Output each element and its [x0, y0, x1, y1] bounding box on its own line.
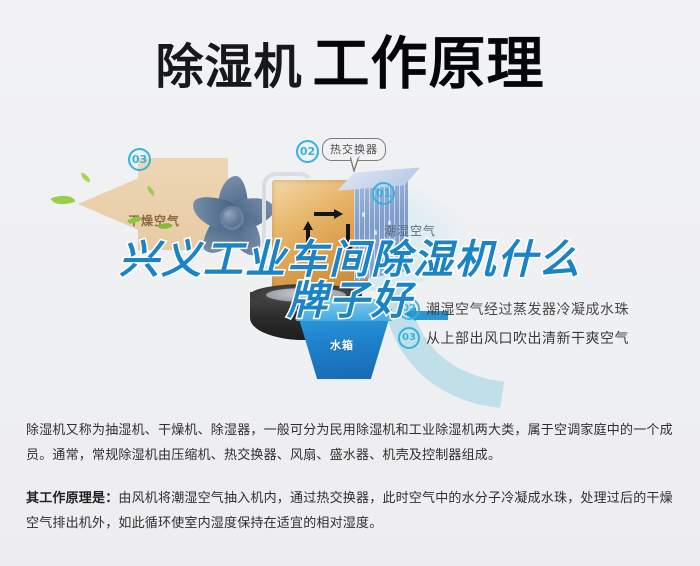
flow-arrow-stem	[314, 212, 334, 216]
badge-01-humid-air: 01	[372, 182, 395, 205]
legend-text: 从上部出风口吹出清新干爽空气	[426, 328, 629, 348]
callout-tail-icon	[350, 156, 360, 172]
legend-row: 02 潮湿空气经过蒸发器冷凝成水珠	[398, 294, 694, 323]
paragraph-definition: 除湿机又称为抽湿机、干燥机、除湿器，一般可分为民用除湿机和工业除湿机两大类，属于…	[26, 418, 676, 468]
water-droplet-icon	[368, 248, 371, 253]
flow-arrow-up-icon	[303, 221, 313, 230]
legend-list: 02 潮湿空气经过蒸发器冷凝成水珠 03 从上部出风口吹出清新干爽空气	[398, 294, 694, 352]
paragraph-principle-lead: 其工作原理是：	[26, 491, 118, 506]
fan-hub	[220, 206, 244, 230]
body-copy: 除湿机又称为抽湿机、干燥机、除湿器，一般可分为民用除湿机和工业除湿机两大类，属于…	[26, 418, 676, 536]
water-droplet-icon	[362, 212, 365, 217]
paragraph-principle-rest: 由风机将潮湿空气抽入机内，通过热交换器，此时空气中的水分子冷凝成水珠，处理过后的…	[26, 491, 673, 531]
title-part-a: 除湿机	[155, 43, 302, 91]
title-part-b: 工作原理	[313, 36, 545, 93]
paragraph-principle: 其工作原理是：由风机将潮湿空气抽入机内，通过热交换器，此时空气中的水分子冷凝成水…	[26, 486, 676, 536]
flow-arrow-stem	[306, 230, 310, 252]
water-tank-label: 水箱	[330, 337, 354, 353]
page-root: 除湿机 工作原理 干燥空气	[0, 0, 700, 566]
legend-badge: 02	[398, 298, 420, 320]
legend-row: 03 从上部出风口吹出清新干爽空气	[398, 323, 694, 352]
water-tank-top	[296, 299, 392, 321]
badge-02-heat-exchanger: 02	[296, 140, 319, 163]
water-tank: 水箱	[296, 299, 392, 379]
leaf-icon	[79, 172, 92, 182]
diagram-illustration: 干燥空气	[0, 126, 700, 396]
water-droplet-icon	[374, 230, 377, 235]
leaf-icon	[51, 190, 76, 209]
legend-text: 潮湿空气经过蒸发器冷凝成水珠	[426, 299, 629, 319]
badge-03-dry-air: 03	[128, 148, 151, 171]
flow-arrow-right-icon	[334, 209, 343, 219]
legend-badge: 03	[398, 327, 420, 349]
water-droplet-icon	[392, 246, 395, 251]
title-wrap: 除湿机 工作原理	[155, 36, 544, 93]
humid-air-label: 潮湿空气	[384, 222, 436, 239]
